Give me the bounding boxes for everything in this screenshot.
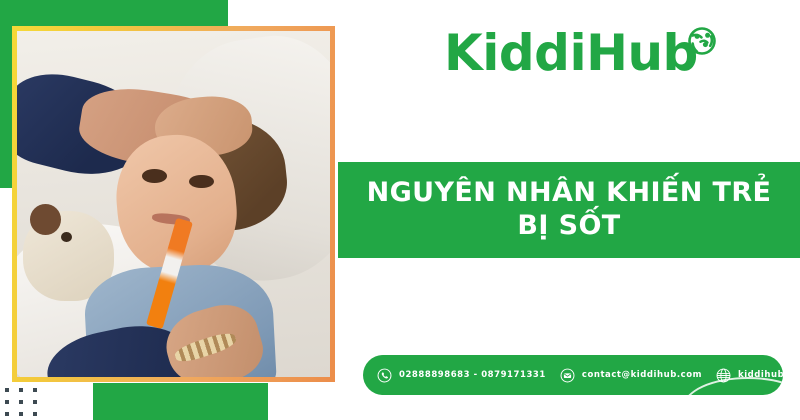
contact-phone[interactable]: 02888898683 - 0879171331	[377, 368, 546, 383]
contact-website[interactable]: kiddihub.com	[716, 368, 783, 383]
contact-phone-text: 02888898683 - 0879171331	[399, 370, 546, 380]
decor-green-block-top	[0, 0, 228, 28]
title-banner: NGUYÊN NHÂN KHIẾN TRẺ BỊ SỐT	[338, 162, 800, 258]
contact-bar: 02888898683 - 0879171331 contact@kiddihu…	[363, 355, 783, 395]
child-fever-photo	[17, 31, 330, 377]
photo-teddy-bear-ear	[30, 204, 61, 235]
envelope-icon	[560, 368, 575, 383]
contact-website-text: kiddihub.com	[738, 370, 783, 380]
contact-email-text: contact@kiddihub.com	[582, 370, 702, 380]
contact-email[interactable]: contact@kiddihub.com	[560, 368, 702, 383]
globe-icon	[716, 368, 731, 383]
photo-teddy-bear-eye	[61, 232, 72, 242]
page-title-line2: BỊ SỐT	[517, 210, 620, 243]
poster-canvas: KiddiHub NGUYÊN NHÂN KHIẾN TRẺ BỊ SỐT	[0, 0, 800, 420]
globe-people-icon	[685, 24, 719, 63]
phone-icon	[377, 368, 392, 383]
decor-green-block-bottom	[93, 383, 268, 420]
brand-logo[interactable]: KiddiHub	[444, 28, 719, 78]
decor-dots-grid	[5, 388, 47, 420]
photo-frame	[12, 26, 335, 382]
brand-logo-text: KiddiHub	[444, 28, 698, 78]
page-title-line1: NGUYÊN NHÂN KHIẾN TRẺ	[367, 177, 772, 210]
